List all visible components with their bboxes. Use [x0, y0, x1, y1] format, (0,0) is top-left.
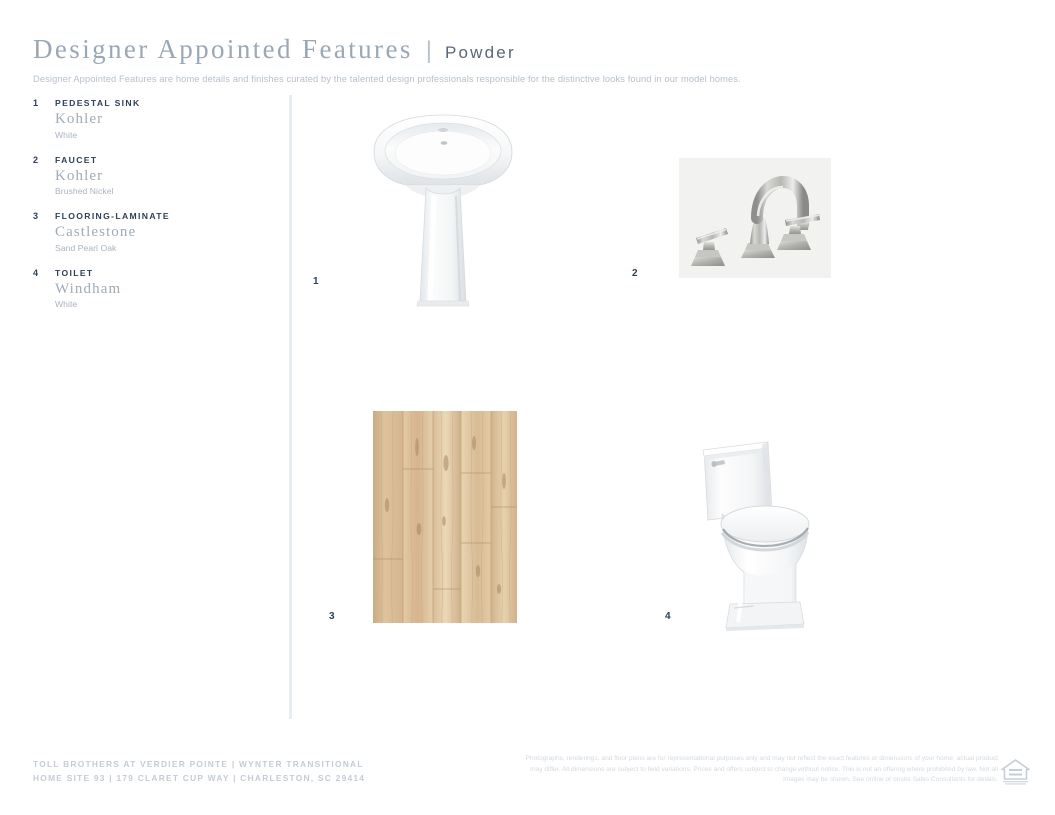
footer-community-line-2: HOME SITE 93 | 179 CLARET CUP WAY | CHAR… — [33, 772, 365, 786]
spec-category: PEDESTAL SINK — [55, 98, 141, 108]
page-header: Designer Appointed Features | Powder Des… — [33, 34, 1023, 84]
spec-number: 2 — [33, 155, 55, 165]
callout-number-4: 4 — [665, 611, 671, 622]
spec-finish: White — [55, 299, 263, 309]
spec-header: 2 FAUCET — [33, 155, 263, 165]
list-item: 2 FAUCET Kohler Brushed Nickel — [33, 155, 263, 197]
spec-brand: Kohler — [55, 168, 263, 185]
spec-brand: Kohler — [55, 111, 263, 128]
spec-header: 1 PEDESTAL SINK — [33, 98, 263, 108]
spec-brand: Windham — [55, 281, 263, 298]
toilet-image — [700, 438, 818, 632]
footer-community-info: TOLL BROTHERS AT VERDIER POINTE | WYNTER… — [33, 758, 365, 786]
spec-finish: White — [55, 130, 263, 140]
footer-disclaimer: Photographs, renderings, and floor plans… — [520, 754, 998, 786]
spec-brand: Castlestone — [55, 224, 263, 241]
spec-finish: Brushed Nickel — [55, 186, 263, 196]
spec-category: TOILET — [55, 268, 94, 278]
spec-header: 3 FLOORING-LAMINATE — [33, 211, 263, 221]
flooring-laminate-swatch — [373, 411, 517, 623]
callout-number-3: 3 — [329, 611, 335, 622]
spec-number: 3 — [33, 211, 55, 221]
callout-number-1: 1 — [313, 276, 319, 287]
page-title: Designer Appointed Features | Powder — [33, 34, 1023, 66]
spec-category: FAUCET — [55, 155, 97, 165]
spec-finish: Sand Pearl Oak — [55, 243, 263, 253]
vertical-divider — [289, 95, 292, 719]
equal-housing-opportunity-icon — [1000, 756, 1031, 786]
list-item: 4 TOILET Windham White — [33, 268, 263, 310]
title-separator: | — [426, 37, 432, 66]
callout-number-2: 2 — [632, 268, 638, 279]
page-title-main: Designer Appointed Features — [33, 34, 413, 65]
list-item: 1 PEDESTAL SINK Kohler White — [33, 98, 263, 140]
specification-list: 1 PEDESTAL SINK Kohler White 2 FAUCET Ko… — [33, 98, 263, 324]
spec-header: 4 TOILET — [33, 268, 263, 278]
pedestal-sink-image — [368, 108, 518, 308]
footer-community-line-1: TOLL BROTHERS AT VERDIER POINTE | WYNTER… — [33, 758, 365, 772]
spec-number: 4 — [33, 268, 55, 278]
spec-number: 1 — [33, 98, 55, 108]
page-title-room: Powder — [445, 43, 516, 63]
spec-category: FLOORING-LAMINATE — [55, 211, 170, 221]
faucet-image — [679, 158, 831, 278]
list-item: 3 FLOORING-LAMINATE Castlestone Sand Pea… — [33, 211, 263, 253]
page-subtitle: Designer Appointed Features are home det… — [33, 74, 1023, 84]
